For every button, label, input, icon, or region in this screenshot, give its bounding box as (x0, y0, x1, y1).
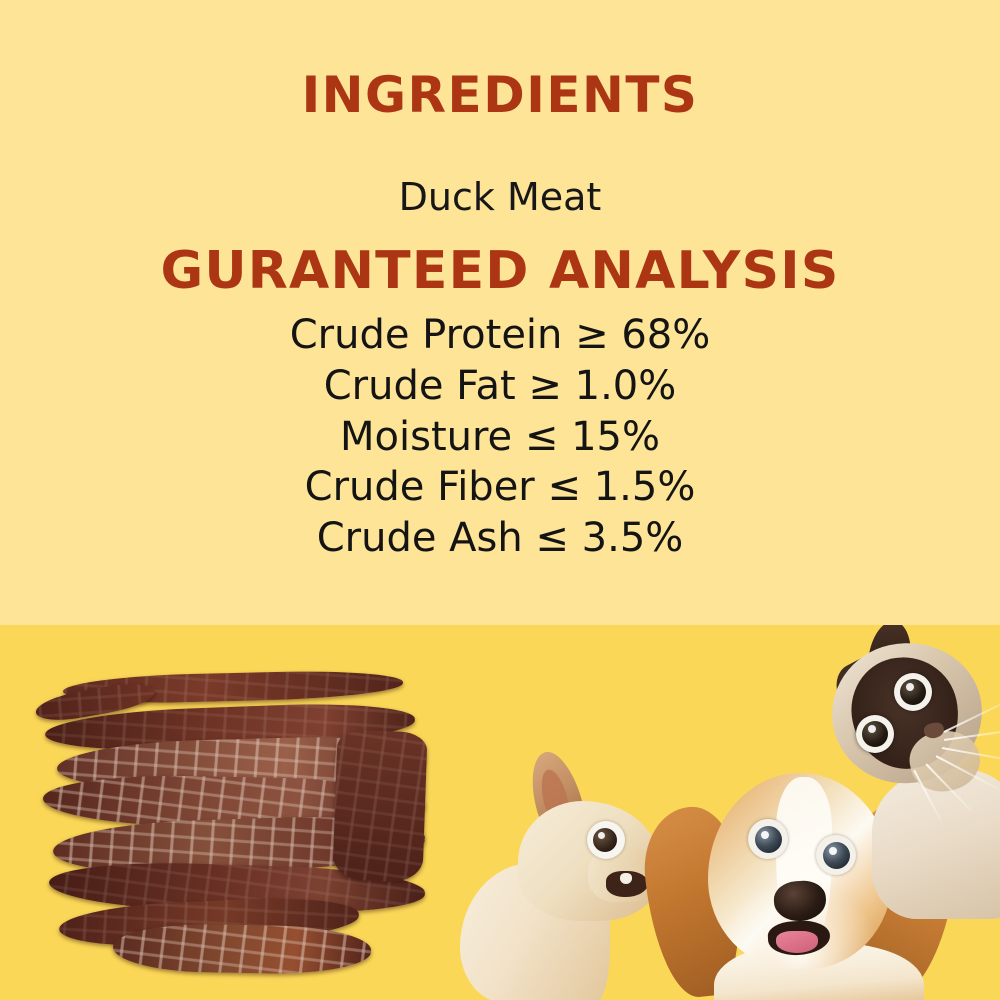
product-label-card: INGREDIENTS Duck Meat GURANTEED ANALYSIS… (0, 0, 1000, 1000)
ingredients-body-text: Duck Meat (0, 176, 1000, 220)
product-photo-band (0, 625, 1000, 1000)
analysis-row-crude-protein: Crude Protein ≥ 68% (0, 310, 1000, 361)
cat-lower-iris (862, 721, 888, 747)
chihuahua-pupil (593, 828, 617, 852)
cat-body (872, 769, 1000, 919)
spaniel-tongue (776, 931, 818, 953)
guaranteed-analysis-heading: GURANTEED ANALYSIS (0, 245, 1000, 297)
himalayan-cat (818, 625, 1000, 909)
analysis-row-moisture: Moisture ≤ 15% (0, 412, 1000, 463)
nutrition-info-panel: INGREDIENTS Duck Meat GURANTEED ANALYSIS… (0, 0, 1000, 625)
analysis-row-crude-fiber: Crude Fiber ≤ 1.5% (0, 462, 1000, 513)
spaniel-left-iris (755, 826, 782, 853)
ingredients-heading: INGREDIENTS (0, 70, 1000, 120)
duck-jerky-strips-stack (35, 673, 430, 983)
jerky-strip (332, 729, 427, 882)
chihuahua-tooth (620, 873, 632, 884)
analysis-row-crude-ash: Crude Ash ≤ 3.5% (0, 513, 1000, 564)
jerky-strip (113, 923, 372, 976)
guaranteed-analysis-list: Crude Protein ≥ 68% Crude Fat ≥ 1.0% Moi… (0, 310, 1000, 564)
analysis-row-crude-fat: Crude Fat ≥ 1.0% (0, 361, 1000, 412)
cat-upper-iris (900, 679, 926, 705)
